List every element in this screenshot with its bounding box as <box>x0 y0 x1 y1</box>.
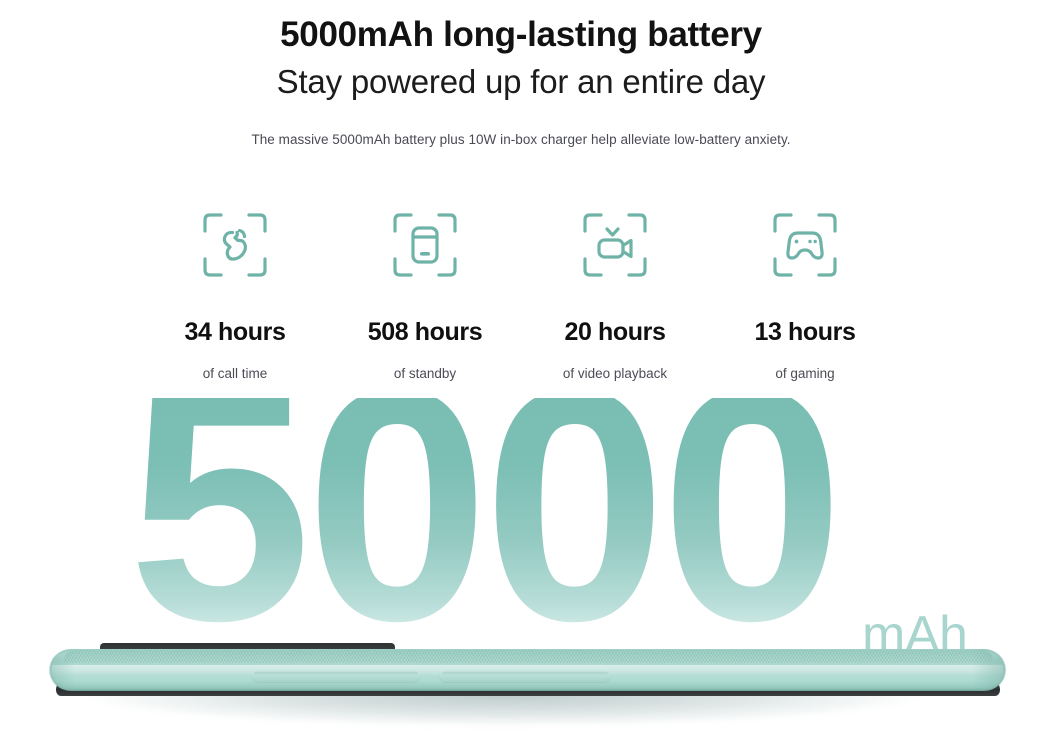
stat-gaming: 13 hours of gaming <box>710 208 900 381</box>
phone-right-edge <box>972 649 1006 691</box>
stat-label: of call time <box>140 366 330 381</box>
stat-standby: 508 hours of standby <box>330 208 520 381</box>
call-icon <box>140 208 330 282</box>
stat-call-time: 34 hours of call time <box>140 208 330 381</box>
stat-label: of video playback <box>520 366 710 381</box>
page-title: 5000mAh long-lasting battery <box>0 14 1042 55</box>
standby-icon <box>330 208 520 282</box>
gaming-icon <box>710 208 900 282</box>
stat-value: 20 hours <box>520 318 710 347</box>
stat-value: 34 hours <box>140 318 330 347</box>
video-icon <box>520 208 710 282</box>
phone-body <box>50 649 1005 691</box>
phone-left-edge <box>49 649 75 691</box>
battery-stats-row: 34 hours of call time 508 hours of stand… <box>140 208 900 381</box>
phone-product-image <box>50 643 1005 703</box>
big-number-value: 5000 <box>128 398 838 668</box>
hero-description: The massive 5000mAh battery plus 10W in-… <box>0 132 1042 147</box>
stat-value: 508 hours <box>330 318 520 347</box>
stat-label: of standby <box>330 366 520 381</box>
page-subtitle: Stay powered up for an entire day <box>0 61 1042 104</box>
stat-value: 13 hours <box>710 318 900 347</box>
battery-feature-page: 5000mAh long-lasting battery Stay powere… <box>0 0 1042 749</box>
phone-volume-button <box>252 671 420 682</box>
phone-power-button <box>440 671 610 682</box>
hero-heading-block: 5000mAh long-lasting battery Stay powere… <box>0 14 1042 104</box>
stat-label: of gaming <box>710 366 900 381</box>
stat-video-playback: 20 hours of video playback <box>520 208 710 381</box>
phone-back-texture <box>64 650 993 663</box>
